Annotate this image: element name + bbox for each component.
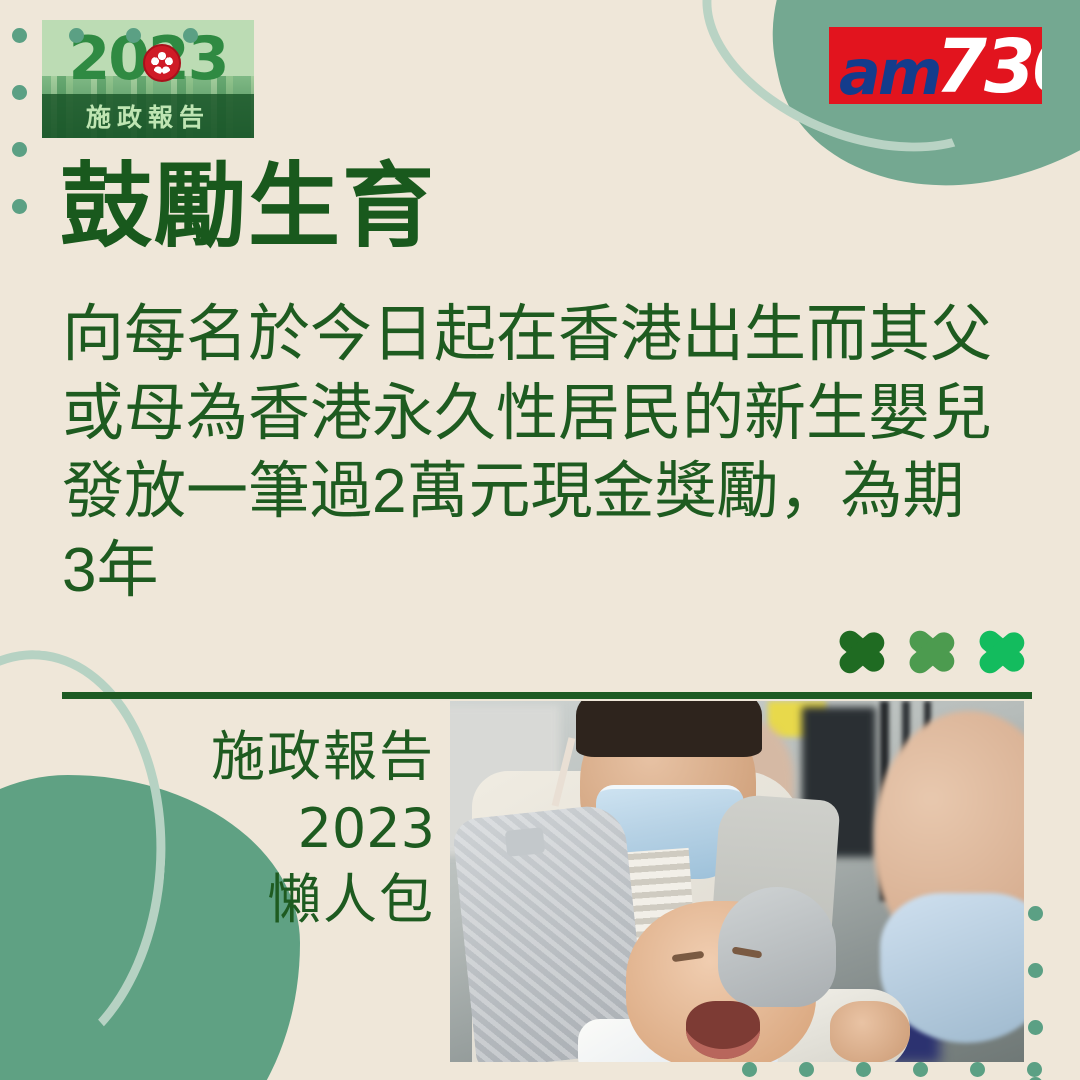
chevron-group <box>836 610 1040 694</box>
decorative-dot <box>742 1062 757 1077</box>
decorative-dot <box>856 1062 871 1077</box>
photo-mother-and-baby <box>450 701 1024 1062</box>
decorative-dot <box>799 1062 814 1077</box>
decorative-dot <box>1028 1020 1043 1035</box>
hong-kong-bauhinia-emblem-icon <box>143 44 181 82</box>
decorative-dot <box>1028 906 1043 921</box>
policy-address-logo-band-label: 施政報告 <box>86 98 210 134</box>
photo-mother-hand <box>830 1001 910 1062</box>
chevron-right-icon-1 <box>836 610 900 694</box>
decorative-dot <box>126 28 141 43</box>
chevron-right-icon-2 <box>906 610 970 694</box>
body-text-line: 發放一筆過2萬元現金獎勵，為期 <box>62 453 992 532</box>
photo-baby-carrier-buckle <box>505 827 546 857</box>
footer-caption-line-1: 施政報告 <box>211 722 435 793</box>
decorative-curve-bottom-left <box>0 641 179 1080</box>
body-text: 向每名於今日起在香港出生而其父 或母為香港永久性居民的新生嬰兒 發放一筆過2萬元… <box>62 296 992 611</box>
chevron-right-icon-3 <box>976 610 1040 694</box>
decorative-dot <box>183 28 198 43</box>
decorative-dot <box>69 28 84 43</box>
photo-baby-open-mouth <box>686 1001 760 1059</box>
page-title: 鼓勵生育 <box>60 158 436 257</box>
decorative-dot <box>12 142 27 157</box>
decorative-dot <box>12 199 27 214</box>
horizontal-divider <box>62 692 1032 699</box>
decorative-dot <box>1028 963 1043 978</box>
am730-logo-suffix: 730 <box>935 30 1042 104</box>
policy-address-logo-band: 施政報告 <box>42 94 254 138</box>
decorative-dot <box>1027 1062 1042 1077</box>
body-text-line: 或母為香港永久性居民的新生嬰兒 <box>62 375 992 454</box>
photo-mother-hair <box>576 701 762 757</box>
am730-logo: am 730 <box>829 27 1042 104</box>
body-text-line: 向每名於今日起在香港出生而其父 <box>62 296 992 375</box>
footer-caption-line-3: 懶人包 <box>211 865 435 936</box>
footer-caption: 施政報告 2023 懶人包 <box>211 722 435 936</box>
decorative-dot <box>12 28 27 43</box>
am730-logo-prefix: am <box>839 42 939 104</box>
decorative-dot <box>913 1062 928 1077</box>
footer-caption-line-2: 2023 <box>211 793 435 864</box>
decorative-dot <box>12 85 27 100</box>
body-text-line: 3年 <box>62 532 992 611</box>
social-card: 2023 施政報告 am 730 鼓勵生育 向每名於今日起在香港出生而其父 或母… <box>0 0 1080 1080</box>
decorative-dot <box>970 1062 985 1077</box>
